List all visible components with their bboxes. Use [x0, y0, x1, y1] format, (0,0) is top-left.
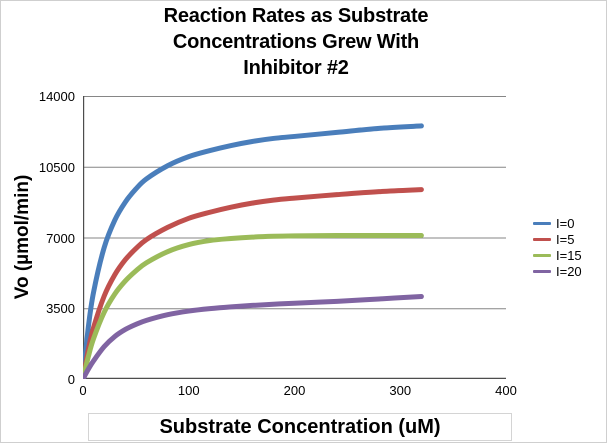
x-tick-label: 0: [53, 384, 113, 397]
series-line: [83, 190, 421, 379]
legend-color-swatch-icon: [533, 222, 551, 225]
x-tick-label: 100: [159, 384, 219, 397]
legend-item-label: I=5: [556, 233, 574, 246]
legend-item[interactable]: I=15: [533, 247, 603, 263]
chart-title-line-3: Inhibitor #2: [61, 55, 531, 81]
legend-item-label: I=0: [556, 217, 574, 230]
x-tick-label: 400: [476, 384, 536, 397]
chart-container: Reaction Rates as Substrate Concentratio…: [0, 0, 607, 443]
x-axis-tick-labels: 0 100 200 300 400: [83, 384, 506, 402]
x-tick-label: 200: [265, 384, 325, 397]
chart-title-line-1: Reaction Rates as Substrate: [61, 3, 531, 29]
legend-color-swatch-icon: [533, 254, 551, 257]
legend-item-label: I=15: [556, 249, 582, 262]
x-tick-label: 300: [370, 384, 430, 397]
legend-item[interactable]: I=0: [533, 215, 603, 231]
chart-title-line-2: Concentrations Grew With: [61, 29, 531, 55]
y-tick-label: 14000: [15, 90, 75, 103]
x-axis-title-box: Substrate Concentration (uM): [88, 413, 512, 441]
plot-svg: [83, 96, 506, 379]
plot-area: [83, 96, 506, 379]
legend-color-swatch-icon: [533, 238, 551, 241]
chart-legend: I=0 I=5 I=15 I=20: [533, 215, 603, 279]
y-axis-title: Vo (µmol/min): [12, 137, 34, 337]
x-axis-title: Substrate Concentration (uM): [159, 416, 440, 439]
legend-item[interactable]: I=20: [533, 263, 603, 279]
legend-item[interactable]: I=5: [533, 231, 603, 247]
legend-color-swatch-icon: [533, 270, 551, 273]
chart-title: Reaction Rates as Substrate Concentratio…: [61, 3, 531, 81]
legend-item-label: I=20: [556, 265, 582, 278]
